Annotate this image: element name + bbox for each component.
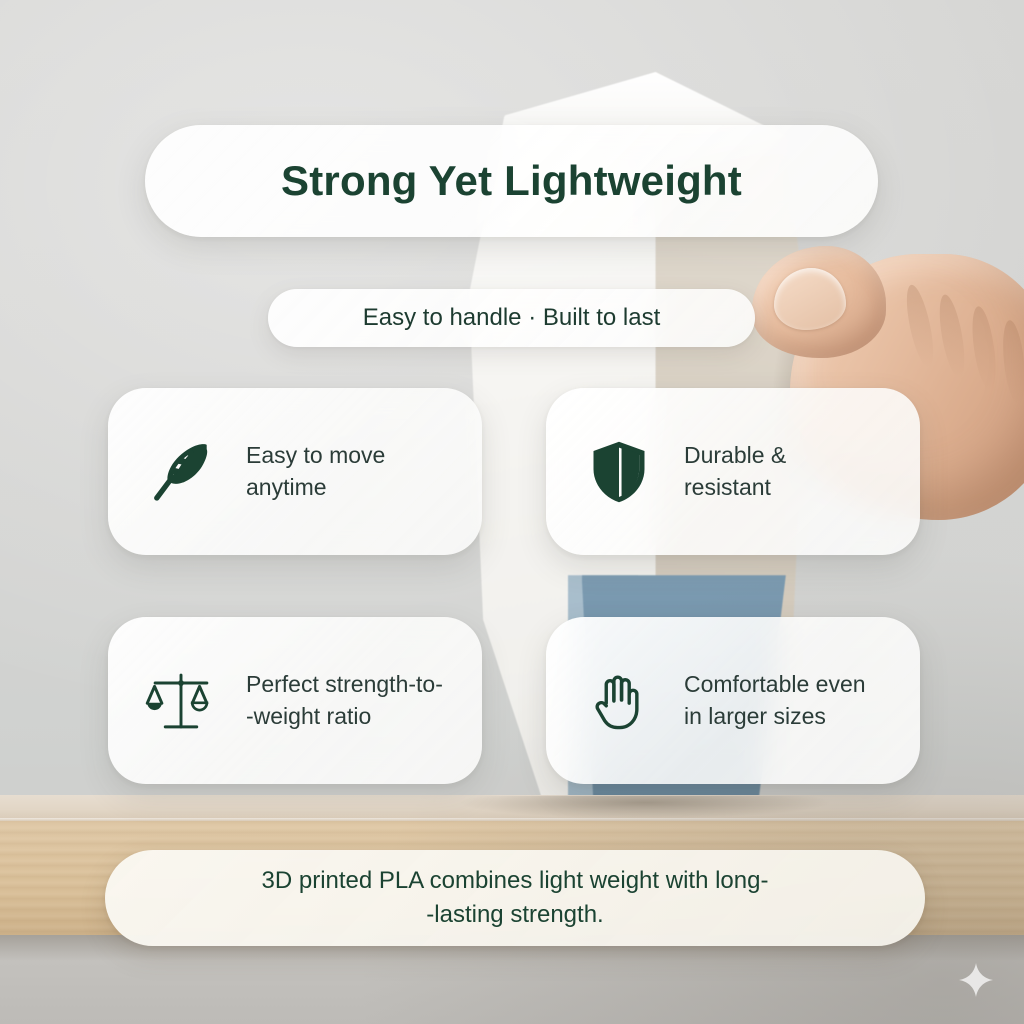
- feature-label-line2: in larger sizes: [684, 703, 826, 729]
- footer-line1: 3D printed PLA combines light weight wit…: [262, 867, 769, 894]
- feather-icon: [142, 433, 220, 511]
- page-title: Strong Yet Lightweight: [145, 125, 878, 237]
- feature-card-label: Comfortable even in larger sizes: [684, 669, 866, 732]
- feature-label-line1: Easy to move: [246, 442, 385, 468]
- feature-label-line1: Durable &: [684, 442, 786, 468]
- open-hand-icon: [580, 662, 658, 740]
- feature-card-label: Perfect strength-to- -weight ratio: [246, 669, 443, 732]
- feature-label-line2: resistant: [684, 474, 771, 500]
- page-subtitle-text: Easy to handle · Built to last: [363, 304, 661, 332]
- overlay-ui: Strong Yet Lightweight Easy to handle · …: [0, 0, 1024, 1024]
- feature-card-strength-to-weight[interactable]: Perfect strength-to- -weight ratio: [108, 617, 482, 784]
- page-title-text: Strong Yet Lightweight: [281, 157, 742, 205]
- feature-label-line2: anytime: [246, 474, 327, 500]
- feature-label-line2: -weight ratio: [246, 703, 371, 729]
- page-subtitle: Easy to handle · Built to last: [268, 289, 755, 347]
- sparkle-icon: [956, 960, 996, 1000]
- footer-line2: -lasting strength.: [426, 901, 603, 928]
- feature-label-line1: Comfortable even: [684, 671, 866, 697]
- balance-scale-icon: [142, 662, 220, 740]
- footer-banner-text: 3D printed PLA combines light weight wit…: [262, 864, 769, 932]
- feature-card-durable[interactable]: Durable & resistant: [546, 388, 920, 555]
- feature-card-label: Durable & resistant: [684, 440, 786, 503]
- feature-label-line1: Perfect strength-to-: [246, 671, 443, 697]
- feature-card-comfortable[interactable]: Comfortable even in larger sizes: [546, 617, 920, 784]
- shield-icon: [580, 433, 658, 511]
- feature-grid: Easy to move anytime Durable & resistant: [108, 388, 920, 784]
- feature-card-label: Easy to move anytime: [246, 440, 385, 503]
- feature-card-easy-to-move[interactable]: Easy to move anytime: [108, 388, 482, 555]
- scene-root: Strong Yet Lightweight Easy to handle · …: [0, 0, 1024, 1024]
- footer-banner: 3D printed PLA combines light weight wit…: [105, 850, 925, 946]
